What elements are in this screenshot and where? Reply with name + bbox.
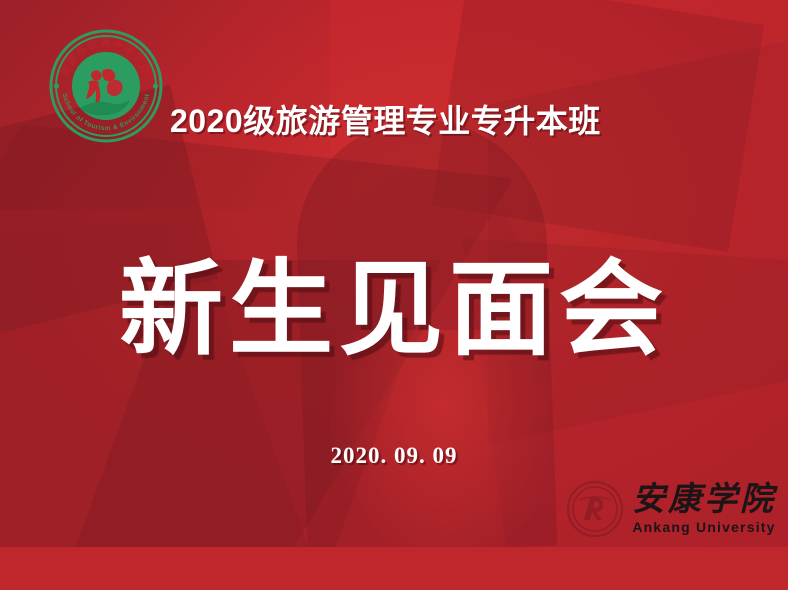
university-name-cn: 安康学院 <box>632 484 776 517</box>
school-emblem-icon: 旅游与资源环境学院 School of Tourism & Environmen… <box>48 28 164 144</box>
bottom-accent-band <box>0 547 788 590</box>
event-date: 2020. 09. 09 <box>0 443 788 469</box>
title-slide: 旅游与资源环境学院 School of Tourism & Environmen… <box>0 0 788 590</box>
university-name-en: Ankang University <box>632 520 775 534</box>
header-title: 2020级旅游管理专业专升本班 <box>170 104 656 139</box>
page-title: 新生见面会 <box>0 252 788 368</box>
university-wordmark: 安康学院 Ankang University <box>566 480 776 538</box>
ankang-university-seal-icon <box>566 480 624 538</box>
